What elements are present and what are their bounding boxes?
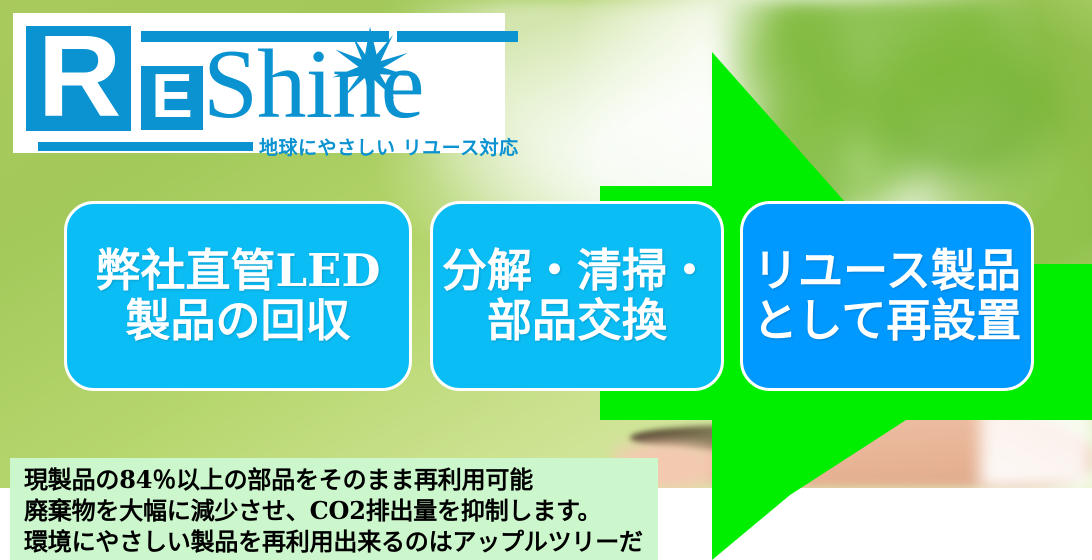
sparkle-star-icon	[329, 25, 411, 107]
flow-step-collect[interactable]: 弊社直管LED 製品の回収	[64, 201, 412, 391]
caption-text: 現製品の84％以上の部品をそのまま再利用可能 廃棄物を大幅に減少させ、CO2排出…	[10, 458, 658, 560]
flow-step-refurbish[interactable]: 分解・清掃・ 部品交換	[430, 201, 724, 391]
logo-tagline: 地球にやさしい リユース対応	[259, 137, 519, 159]
reshine-logo: R E Shine 地球にやさしい リユース対応	[13, 13, 505, 153]
reshine-reuse-flow-banner: R E Shine 地球にやさしい リユース対応 弊社直管LED 製品の回収 分…	[0, 0, 1092, 560]
flow-step-reinstall[interactable]: リユース製品 として再設置	[740, 201, 1034, 391]
logo-letter-r: R	[26, 26, 131, 131]
logo-underline-bar	[38, 142, 253, 151]
logo-letter-e: E	[141, 66, 203, 130]
